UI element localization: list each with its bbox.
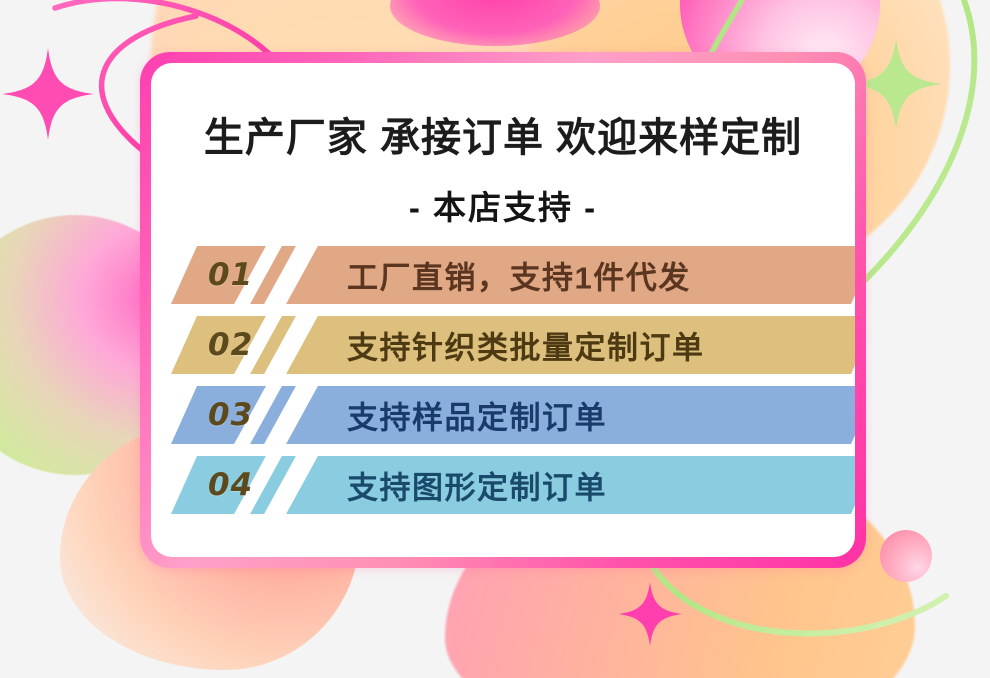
feature-text-02: 支持针织类批量定制订单 (347, 323, 705, 368)
promo-poster: 生产厂家 承接订单 欢迎来样定制 - 本店支持 - 01 工厂直销，支持1件代发 (0, 0, 990, 678)
feature-row-01[interactable]: 01 工厂直销，支持1件代发 (151, 246, 855, 304)
feature-row-03[interactable]: 03 支持样品定制订单 (151, 386, 855, 444)
page-title: 生产厂家 承接订单 欢迎来样定制 (151, 105, 855, 163)
feature-list: 01 工厂直销，支持1件代发 02 支持针织类批量定制订单 (151, 246, 855, 546)
feature-text-01: 工厂直销，支持1件代发 (347, 253, 691, 298)
feature-text-03: 支持样品定制订单 (347, 393, 607, 438)
feature-number-01: 01 (208, 257, 253, 293)
feature-row-04[interactable]: 04 支持图形定制订单 (151, 456, 855, 514)
feature-row-02[interactable]: 02 支持针织类批量定制订单 (151, 316, 855, 374)
sparkle-icon-top-left (2, 48, 94, 140)
feature-number-03: 03 (208, 397, 253, 433)
content-card: 生产厂家 承接订单 欢迎来样定制 - 本店支持 - 01 工厂直销，支持1件代发 (140, 52, 866, 568)
subtitle: - 本店支持 - (151, 181, 855, 229)
feature-number-04: 04 (208, 467, 253, 503)
feature-number-02: 02 (208, 327, 253, 363)
feature-text-04: 支持图形定制订单 (347, 463, 607, 508)
content-card-inner: 生产厂家 承接订单 欢迎来样定制 - 本店支持 - 01 工厂直销，支持1件代发 (151, 63, 855, 557)
